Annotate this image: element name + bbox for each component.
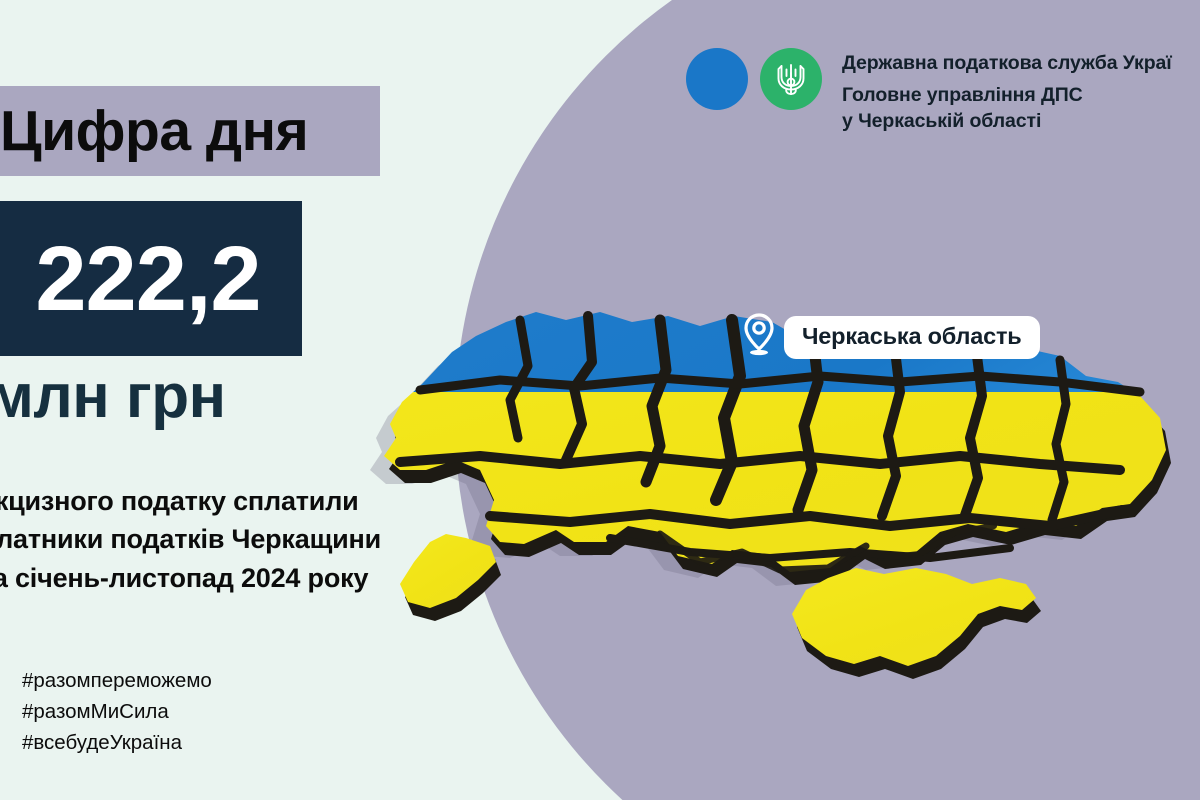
page-title: Цифра дня: [0, 103, 308, 160]
description-text: акцизного податку сплатили платники пода…: [0, 482, 500, 597]
headline-band: Цифра дня: [0, 86, 380, 176]
map-region-tag: Черкаська область: [742, 313, 1040, 362]
infographic-poster: Черкаська область: [0, 0, 1200, 800]
map-pin-icon: [742, 313, 776, 362]
hashtag-list: #разомпереможемо #разомМиСила #всебудеУк…: [22, 665, 212, 758]
description-line-2: платники податків Черкащини: [0, 520, 500, 558]
figure-unit: млн грн: [0, 366, 226, 428]
org-line-1: Державна податкова служба Украї: [842, 50, 1172, 76]
description-line-3: за січень-листопад 2024 року: [0, 559, 500, 597]
hashtag-item: #разомпереможемо: [22, 665, 212, 696]
logo-marks: [686, 48, 836, 110]
org-line-2: Головне управління ДПС: [842, 82, 1172, 108]
region-label: Черкаська область: [784, 316, 1040, 359]
description-line-1: акцизного податку сплатили: [0, 482, 500, 520]
hashtag-item: #всебудеУкраїна: [22, 727, 212, 758]
hashtag-item: #разомМиСила: [22, 696, 212, 727]
figure-value-block: 222,2: [0, 201, 302, 356]
green-circle-icon: [760, 48, 822, 110]
ukraine-map: [360, 170, 1190, 690]
organisation-name: Державна податкова служба Украї Головне …: [842, 48, 1172, 134]
figure-value: 222,2: [1, 233, 260, 325]
org-line-3: у Черкаській області: [842, 108, 1172, 134]
blue-circle-icon: [686, 48, 748, 110]
organisation-logo-lockup: Державна податкова служба Украї Головне …: [686, 48, 1172, 134]
trident-icon: [775, 60, 807, 98]
